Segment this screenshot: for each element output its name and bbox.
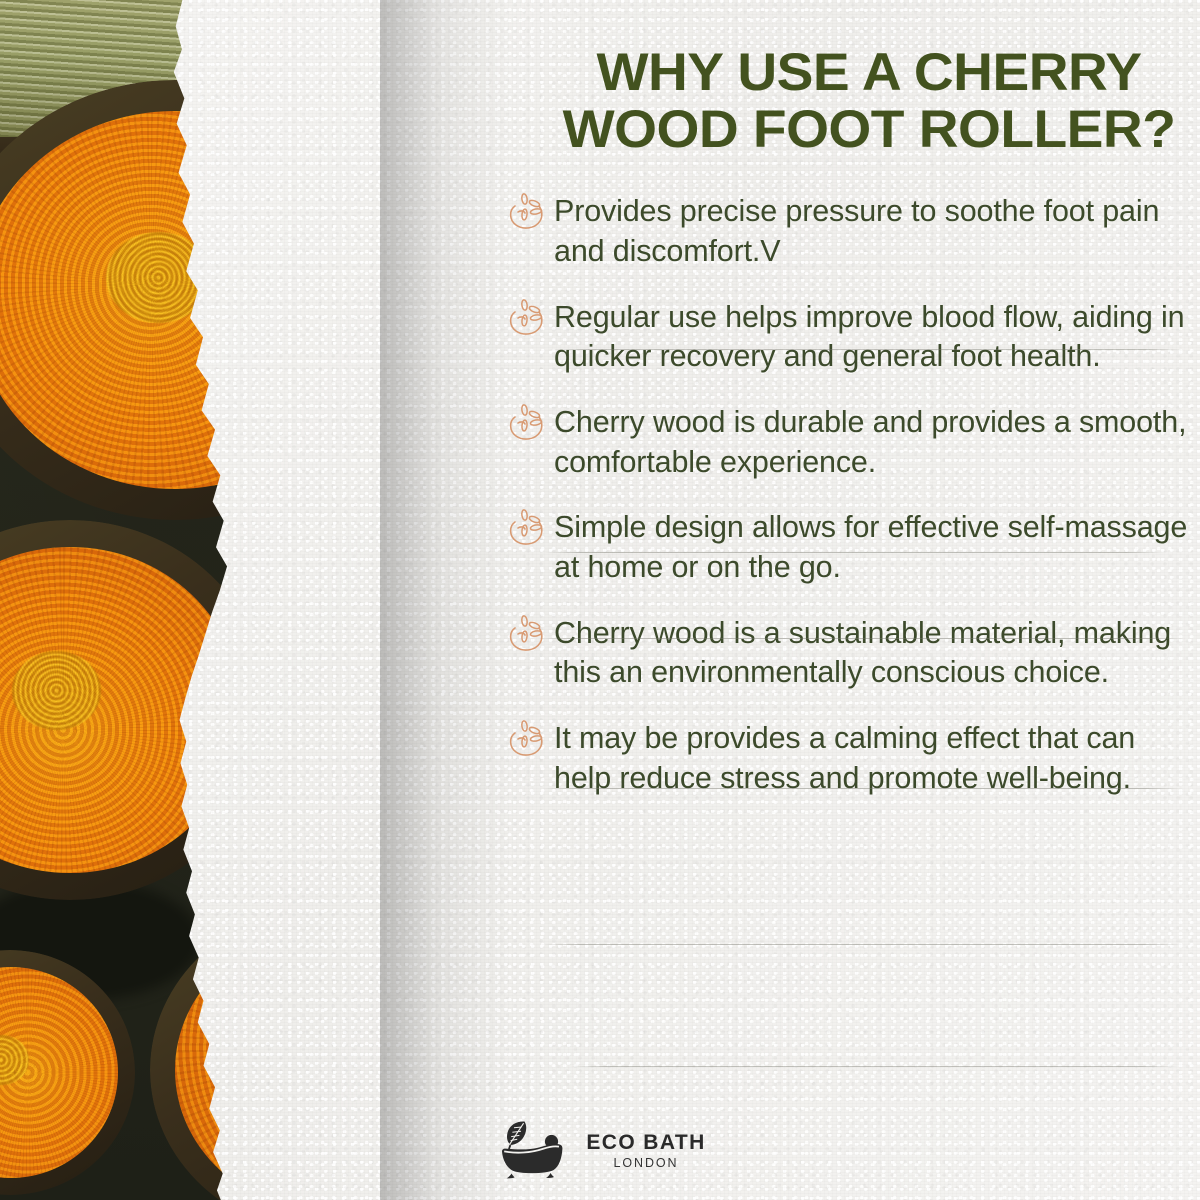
divider [542,944,1182,945]
page-title: WHY USE A CHERRY WOOD FOOT ROLLER? [537,44,1200,158]
list-item: Provides precise pressure to soothe foot… [498,192,1200,271]
list-item-text: Cherry wood is a sustainable material, m… [554,614,1200,693]
brand-subtitle: LONDON [586,1157,705,1170]
list-item: Simple design allows for effective self-… [498,508,1200,587]
page-title-line-1: WHY USE A CHERRY [597,43,1142,102]
list-item-text: Simple design allows for effective self-… [554,508,1200,587]
list-item: It may be provides a calming effect that… [498,719,1200,798]
leaf-sprig-ornament-icon [506,190,552,236]
log-core [12,651,101,729]
brand-name: ECO BATH [586,1132,705,1153]
list-item: Cherry wood is a sustainable material, m… [498,614,1200,693]
list-item-text: Provides precise pressure to soothe foot… [554,192,1200,271]
content-column: WHY USE A CHERRY WOOD FOOT ROLLER? [498,0,1200,1200]
log-core [0,1035,29,1086]
benefits-list: Provides precise pressure to soothe foot… [498,192,1200,798]
brand-text: ECO BATH LONDON [586,1130,705,1170]
leaf-sprig-ornament-icon [506,717,552,763]
leaf-sprig-ornament-icon [506,506,552,552]
brand-logo: ECO BATH LONDON [0,1118,1200,1182]
list-item-text: Regular use helps improve blood flow, ai… [554,298,1200,377]
infographic-canvas: WHY USE A CHERRY WOOD FOOT ROLLER? [0,0,1200,1200]
list-item-text: Cherry wood is durable and provides a sm… [554,403,1200,482]
list-item: Cherry wood is durable and provides a sm… [498,403,1200,482]
list-item: Regular use helps improve blood flow, ai… [498,298,1200,377]
divider [570,1066,1178,1067]
leaf-sprig-ornament-icon [506,296,552,342]
list-item-text: It may be provides a calming effect that… [554,719,1200,798]
eco-bath-bathtub-leaf-logo-icon [494,1118,572,1182]
leaf-sprig-ornament-icon [506,401,552,447]
page-title-line-2: WOOD FOOT ROLLER? [563,100,1176,159]
leaf-sprig-ornament-icon [506,612,552,658]
